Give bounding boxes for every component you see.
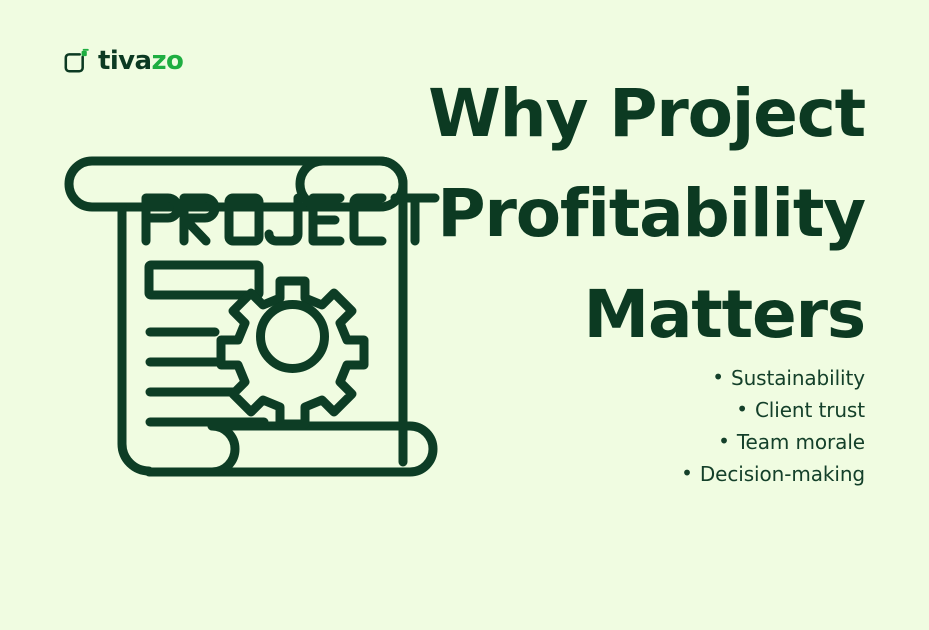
- list-item: •Sustainability: [425, 362, 865, 394]
- page-title-line-1: Why Project: [425, 64, 865, 164]
- list-item: •Team morale: [425, 426, 865, 458]
- document-title-box: [149, 265, 259, 295]
- bullet-icon: •: [736, 399, 748, 419]
- bullet-icon: •: [718, 431, 730, 451]
- brand-logo[interactable]: tivazo: [62, 44, 183, 78]
- project-scroll-with-gear-svg: [62, 122, 462, 512]
- gear-center-hole: [261, 305, 325, 369]
- benefits-list: •Sustainability •Client trust •Team mora…: [425, 362, 865, 490]
- list-item-label: Sustainability: [731, 366, 865, 390]
- page-title-line-2: Profitability: [425, 164, 865, 264]
- brand-wordmark: tivazo: [98, 48, 183, 74]
- bullet-icon: •: [712, 367, 724, 387]
- rounded-bracket-logo-icon: [62, 48, 89, 75]
- brand-name-primary: tiva: [98, 46, 151, 76]
- page-title-line-3: Matters: [425, 265, 865, 365]
- bullet-icon: •: [681, 463, 693, 483]
- page-title: Why Project Profitability Matters: [425, 64, 865, 365]
- list-item: •Decision-making: [425, 458, 865, 490]
- list-item: •Client trust: [425, 394, 865, 426]
- list-item-label: Decision-making: [700, 462, 865, 486]
- gear-icon: [221, 281, 364, 424]
- project-scroll-illustration: [62, 122, 462, 512]
- list-item-label: Team morale: [737, 430, 865, 454]
- brand-name-accent: zo: [151, 46, 183, 76]
- poster-canvas: tivazo: [0, 0, 929, 630]
- scroll-bottom-curl: [212, 426, 235, 472]
- scroll-bottom-roll: [149, 426, 433, 472]
- list-item-label: Client trust: [755, 398, 865, 422]
- document-left-edge: [122, 207, 149, 471]
